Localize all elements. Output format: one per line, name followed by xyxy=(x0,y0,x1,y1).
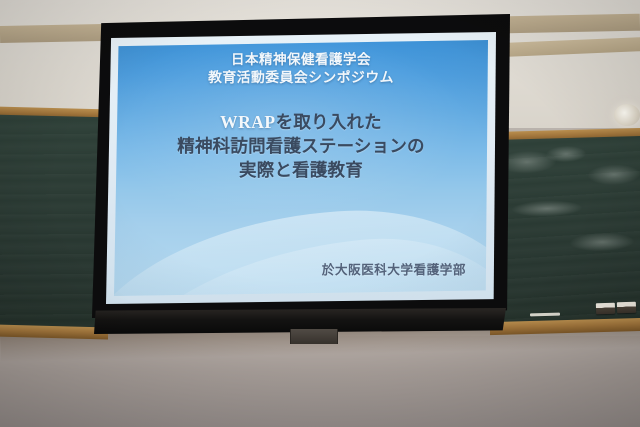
screen-canvas: 日本精神保健看護学会 教育活動委員会シンポジウム WRAPを取り入れた 精神科訪… xyxy=(106,32,496,304)
slide-title-line-3: 実際と看護教育 xyxy=(130,158,472,182)
chalk-smudge xyxy=(588,164,640,185)
slide-footer-venue: 於大阪医科大学看護学部 xyxy=(130,259,472,288)
lecture-room-photo: 日本精神保健看護学会 教育活動委員会シンポジウム WRAPを取り入れた 精神科訪… xyxy=(0,0,640,427)
blackboard-left xyxy=(0,115,104,331)
projected-slide: 日本精神保健看護学会 教育活動委員会シンポジウム WRAPを取り入れた 精神科訪… xyxy=(114,40,488,296)
chalk-smudge xyxy=(546,145,586,162)
eraser xyxy=(596,303,615,315)
slide-title-line-1: WRAPを取り入れた xyxy=(130,110,472,134)
chalk-smudge xyxy=(512,200,582,218)
slide-header-line-2: 教育活動委員会シンポジウム xyxy=(130,69,472,87)
chalk-smudge xyxy=(570,232,634,252)
eraser xyxy=(617,302,636,314)
screen-weight-tab xyxy=(290,329,338,344)
slide-header-line-1: 日本精神保健看護学会 xyxy=(130,51,472,69)
projection-screen: 日本精神保健看護学会 教育活動委員会シンポジウム WRAPを取り入れた 精神科訪… xyxy=(92,14,510,340)
ceiling-light-icon xyxy=(614,104,640,126)
slide-title: WRAPを取り入れた 精神科訪問看護ステーションの 実際と看護教育 xyxy=(130,110,472,182)
slide-title-latin-wrap: WRAP xyxy=(220,112,275,132)
blackboard-right xyxy=(492,136,640,326)
slide-title-line-1-rest: を取り入れた xyxy=(276,112,382,132)
slide-title-line-2: 精神科訪問看護ステーションの xyxy=(130,134,472,158)
slide-header: 日本精神保健看護学会 教育活動委員会シンポジウム xyxy=(130,51,472,88)
